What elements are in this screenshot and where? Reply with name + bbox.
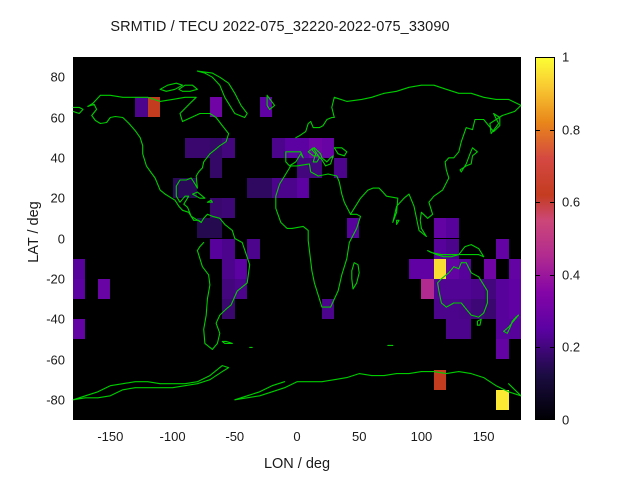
colorbar-tick [535, 130, 540, 131]
coastline-path [197, 71, 247, 117]
x-tick-label: 100 [411, 429, 433, 444]
colorbar-tick-label: 0.2 [562, 340, 580, 355]
x-tick-label: -150 [97, 429, 123, 444]
y-tick-label: -40 [23, 312, 65, 327]
page-title: SRMTID / TECU 2022-075_32220-2022-075_33… [0, 19, 560, 35]
coastline-layer [73, 57, 521, 420]
y-tick-label: -20 [23, 271, 65, 286]
colorbar-tick [535, 275, 540, 276]
colorbar-tick [550, 130, 555, 131]
coastline-path [267, 95, 275, 109]
coastline-path [308, 148, 333, 166]
map-plot-area[interactable] [73, 57, 521, 420]
colorbar-tick-label: 0.8 [562, 122, 580, 137]
coastline-path [276, 164, 361, 307]
coastline-path [438, 263, 488, 317]
coastline-path [222, 341, 232, 343]
colorbar-tick [550, 275, 555, 276]
coastline-path [352, 263, 359, 289]
coastline-path [504, 315, 519, 333]
y-tick-label: -60 [23, 352, 65, 367]
colorbar-tick-label: 0.4 [562, 267, 580, 282]
colorbar-tick-label: 0.6 [562, 195, 580, 210]
coastline-path [397, 220, 399, 224]
y-tick-label: 0 [23, 231, 65, 246]
coastline-path [197, 214, 249, 349]
coastline-path [334, 148, 347, 156]
x-axis-label: LON / deg [73, 456, 521, 472]
colorbar[interactable] [535, 57, 555, 420]
y-tick-label: 80 [23, 70, 65, 85]
colorbar-tick [550, 347, 555, 348]
colorbar-gradient [536, 58, 554, 419]
coastline-path [73, 107, 83, 113]
coastline-path [460, 148, 477, 172]
x-tick-label: -100 [160, 429, 186, 444]
coastline-path [73, 366, 229, 400]
colorbar-tick-label: 1 [562, 50, 569, 65]
tec-map-figure: SRMTID / TECU 2022-075_32220-2022-075_33… [0, 0, 640, 480]
colorbar-tick [550, 419, 555, 420]
colorbar-tick [550, 202, 555, 203]
x-tick-label: 50 [352, 429, 366, 444]
coastline-path [193, 192, 205, 198]
x-tick-label: 150 [473, 429, 495, 444]
coastline-path [88, 95, 229, 222]
colorbar-tick [535, 202, 540, 203]
coastline-path [286, 152, 303, 166]
colorbar-tick-label: 0 [562, 413, 569, 428]
coastline-path [428, 245, 484, 257]
colorbar-tick [535, 347, 540, 348]
y-tick-label: -80 [23, 392, 65, 407]
colorbar-tick [535, 57, 540, 58]
y-tick-label: 20 [23, 191, 65, 206]
coastline-path [207, 200, 212, 202]
coastline-path [235, 372, 521, 400]
y-tick-label: 40 [23, 150, 65, 165]
coastline-path [477, 319, 481, 325]
y-tick-label: 60 [23, 110, 65, 125]
colorbar-tick [550, 57, 555, 58]
x-tick-label: -50 [225, 429, 244, 444]
colorbar-tick [535, 419, 540, 420]
coastline-path [296, 85, 521, 236]
x-tick-label: 0 [293, 429, 300, 444]
